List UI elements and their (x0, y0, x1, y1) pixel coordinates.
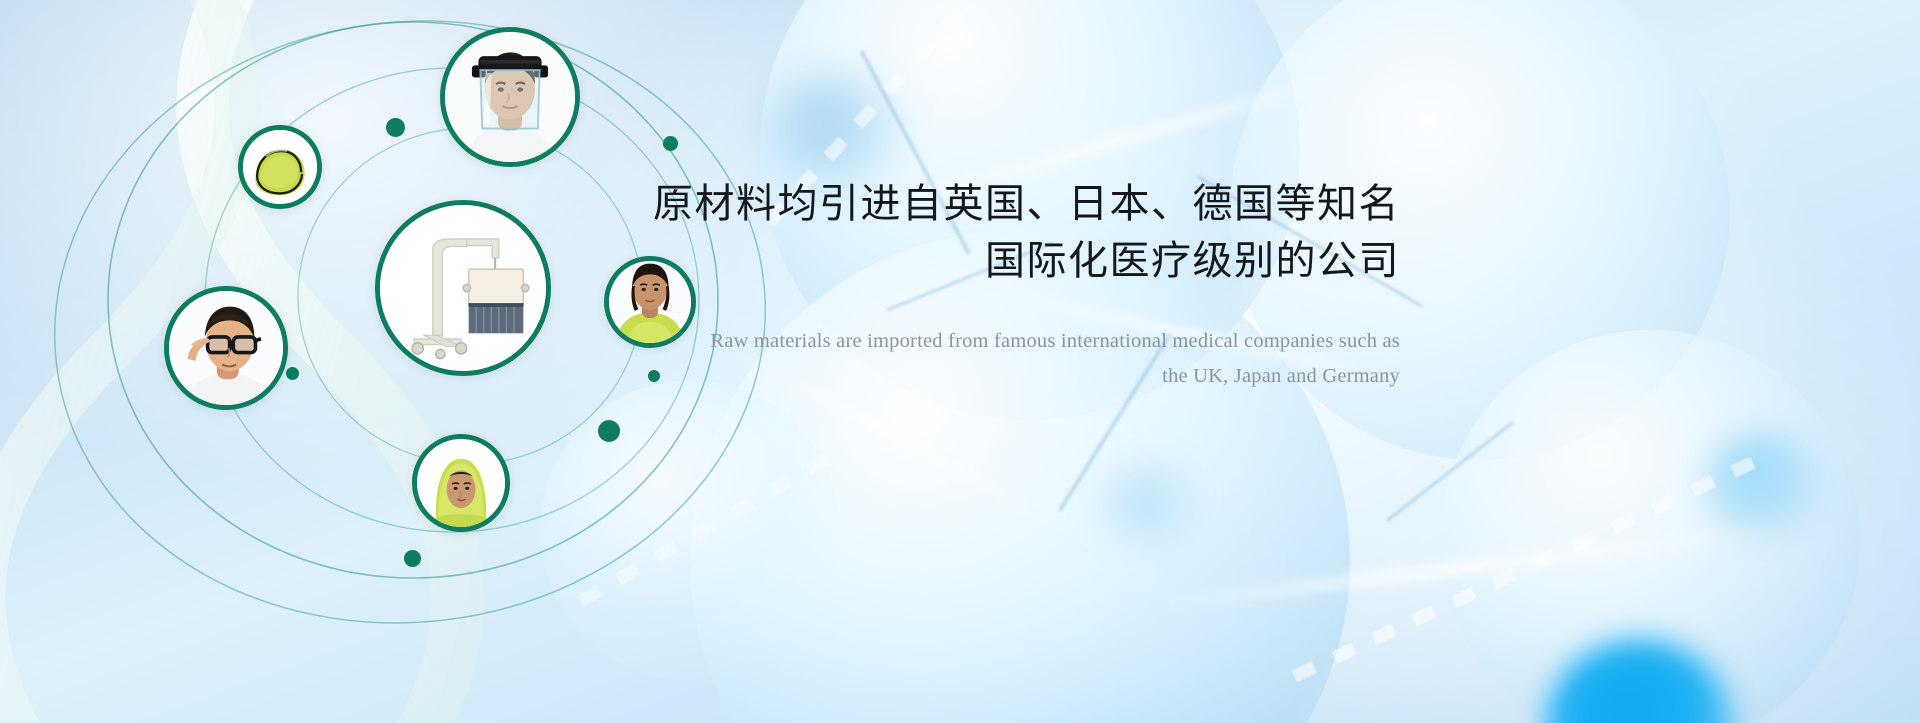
hero-banner: 原材料均引进自英国、日本、德国等知名 国际化医疗级别的公司 Raw materi… (0, 0, 1920, 723)
blue-accent-blob (1090, 460, 1210, 550)
headline-line-2: 国际化医疗级别的公司 (640, 233, 1400, 290)
mobile-x-ray-barrier[interactable] (375, 200, 551, 376)
lead-protective-cap[interactable] (238, 125, 322, 209)
man-wearing-face-shield[interactable] (440, 27, 580, 167)
woman-wearing-protective-hood[interactable] (412, 434, 510, 532)
orbit-dot (598, 420, 620, 442)
subtitle-line-1: Raw materials are imported from famous i… (710, 330, 1400, 352)
man-wearing-lead-glasses[interactable] (164, 286, 288, 410)
orbit-dot (404, 550, 421, 567)
subtitle: Raw materials are imported from famous i… (640, 324, 1400, 396)
orbit-dot (386, 118, 405, 137)
orbit-dot (286, 367, 299, 380)
headline-line-1: 原材料均引进自英国、日本、德国等知名 (653, 182, 1400, 226)
subtitle-line-2: the UK, Japan and Germany (640, 359, 1400, 395)
headline: 原材料均引进自英国、日本、德国等知名 国际化医疗级别的公司 (640, 176, 1400, 290)
orbit-dot (663, 136, 678, 151)
banner-copy: 原材料均引进自英国、日本、德国等知名 国际化医疗级别的公司 Raw materi… (640, 176, 1400, 395)
